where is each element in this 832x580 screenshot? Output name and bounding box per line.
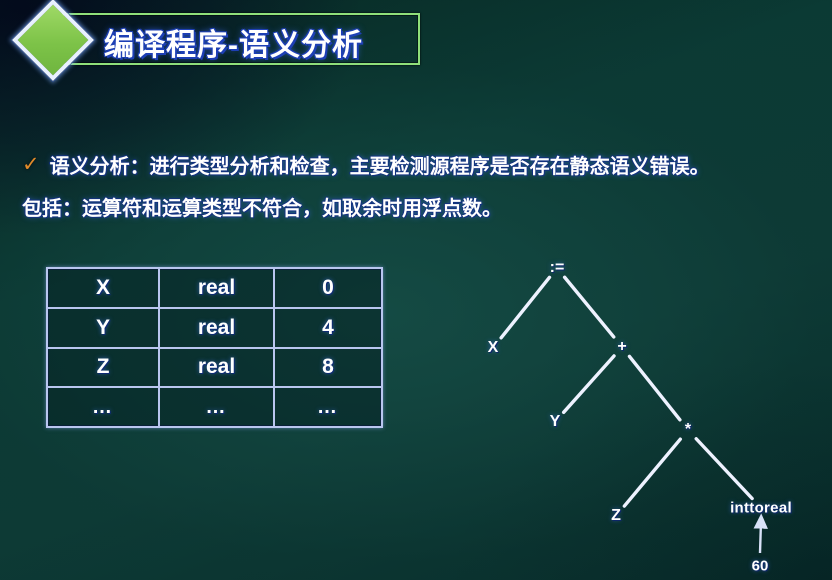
table-cell: Z (48, 349, 160, 387)
table-cell: 8 (275, 349, 381, 387)
tree-edge-times-z (624, 439, 680, 506)
bullet-line-2-text: 包括：运算符和运算类型不符合，如取余时用浮点数。 (22, 192, 502, 221)
table-row: Z real 8 (48, 349, 381, 389)
table-cell: 4 (275, 309, 381, 347)
tree-node-assign: := (550, 259, 565, 277)
check-icon: ✓ (22, 154, 40, 175)
tree-edge-assign-plus (565, 277, 614, 337)
tree-edge-plus-times (629, 356, 679, 419)
table-cell: 0 (275, 269, 381, 307)
tree-node-x: X (488, 339, 499, 357)
conversion-arrow-icon (760, 521, 761, 553)
tree-edge-times-inttoreal (696, 439, 752, 499)
tree-node-sixty: 60 (752, 558, 769, 575)
tree-node-times: * (685, 421, 691, 439)
table-row: X real 0 (48, 269, 381, 309)
tree-edge-assign-x (501, 277, 549, 337)
table-row: Y real 4 (48, 309, 381, 349)
table-row: … … … (48, 388, 381, 426)
tree-node-z: Z (611, 507, 621, 525)
table-cell: … (48, 388, 160, 426)
table-cell: X (48, 269, 160, 307)
symbol-table: X real 0 Y real 4 Z real 8 … … … (46, 267, 383, 428)
table-cell: real (160, 269, 275, 307)
bullet-line-1-text: 语义分析：进行类型分析和检查，主要检测源程序是否存在静态语义错误。 (50, 150, 710, 179)
table-cell: … (275, 388, 381, 426)
table-cell: real (160, 349, 275, 387)
page-title: 编译程序-语义分析 (104, 20, 363, 64)
table-cell: … (160, 388, 275, 426)
slide-canvas: 编译程序-语义分析 ✓ 语义分析：进行类型分析和检查，主要检测源程序是否存在静态… (0, 0, 832, 580)
table-cell: real (160, 309, 275, 347)
tree-node-y: Y (550, 413, 561, 431)
tree-node-plus: + (617, 338, 626, 356)
tree-edge-plus-y (564, 356, 614, 412)
table-cell: Y (48, 309, 160, 347)
tree-node-inttoreal: inttoreal (730, 500, 792, 517)
bullet-line-1: ✓ 语义分析：进行类型分析和检查，主要检测源程序是否存在静态语义错误。 (22, 150, 822, 179)
